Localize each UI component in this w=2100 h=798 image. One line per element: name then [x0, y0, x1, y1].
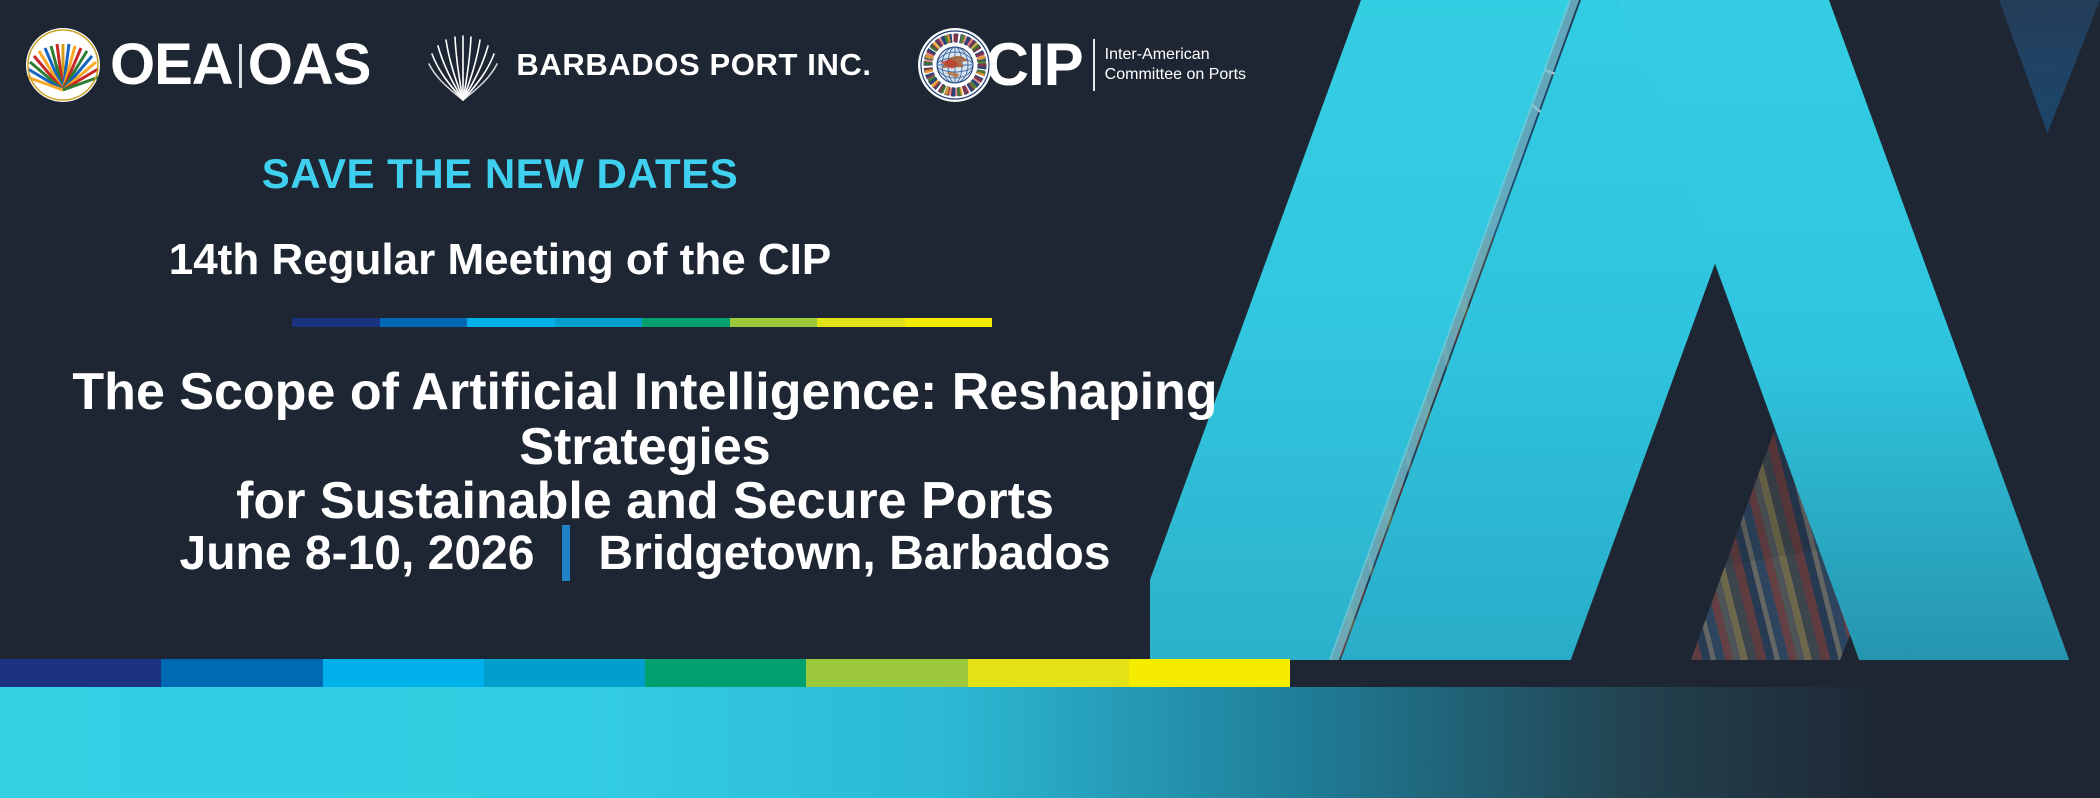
artwork-panel	[1150, 0, 2100, 660]
color-divider	[292, 318, 992, 327]
cip-emblem-icon	[918, 28, 992, 102]
divider-segment	[817, 318, 905, 327]
bottom-gradient-band	[0, 687, 2100, 798]
cip-rule	[1093, 39, 1095, 91]
divider-segment	[555, 318, 643, 327]
divider-segment	[730, 318, 818, 327]
bottom-bar-segment	[645, 659, 806, 687]
oas-logo: OEAOAS	[26, 28, 370, 102]
event-location: Bridgetown, Barbados	[598, 526, 1110, 581]
barbados-port-logo: BARBADOS PORT INC.	[426, 28, 871, 102]
oas-word-oas: OAS	[248, 32, 371, 97]
divider-segment	[467, 318, 555, 327]
cip-subtitle-line1: Inter-American	[1105, 45, 1246, 65]
save-the-dates-kicker: SAVE THE NEW DATES	[0, 150, 1000, 198]
save-the-date-banner: OEAOAS	[0, 0, 2100, 798]
oas-emblem-icon	[26, 28, 100, 102]
meeting-title: 14th Regular Meeting of the CIP	[0, 235, 1000, 285]
oas-word-oea: OEA	[110, 32, 233, 97]
divider-segment	[905, 318, 993, 327]
bottom-bar-segment	[968, 659, 1129, 687]
theme-text: The Scope of Artificial Intelligence: Re…	[0, 365, 1290, 529]
theme-line-2: for Sustainable and Secure Ports	[0, 474, 1290, 529]
cip-subtitle: Inter-American Committee on Ports	[1105, 45, 1246, 85]
bottom-bar-segment	[1129, 659, 1290, 687]
theme-line-1: The Scope of Artificial Intelligence: Re…	[72, 363, 1217, 476]
event-date: June 8-10, 2026	[180, 526, 535, 581]
divider-segment	[292, 318, 380, 327]
date-location-separator	[562, 525, 570, 581]
bottom-color-bar	[0, 659, 1290, 687]
cip-wordmark: CIP	[986, 35, 1083, 95]
oas-word-divider	[239, 44, 242, 88]
barbados-port-fan-icon	[426, 28, 500, 102]
bottom-bar-segment	[323, 659, 484, 687]
content-area: OEAOAS	[0, 0, 1290, 660]
barbados-port-wordmark: BARBADOS PORT INC.	[516, 47, 871, 83]
bottom-bar-segment	[161, 659, 322, 687]
bottom-bar-segment	[0, 659, 161, 687]
bottom-bar-segment	[484, 659, 645, 687]
logo-row: OEAOAS	[26, 28, 1246, 102]
bottom-bar-segment	[806, 659, 967, 687]
divider-segment	[642, 318, 730, 327]
date-location-row: June 8-10, 2026 Bridgetown, Barbados	[0, 525, 1290, 581]
cip-logo: CIP Inter-American Committee on Ports	[918, 28, 1246, 102]
cip-subtitle-line2: Committee on Ports	[1105, 65, 1246, 85]
oas-wordmark: OEAOAS	[110, 36, 370, 94]
divider-segment	[380, 318, 468, 327]
